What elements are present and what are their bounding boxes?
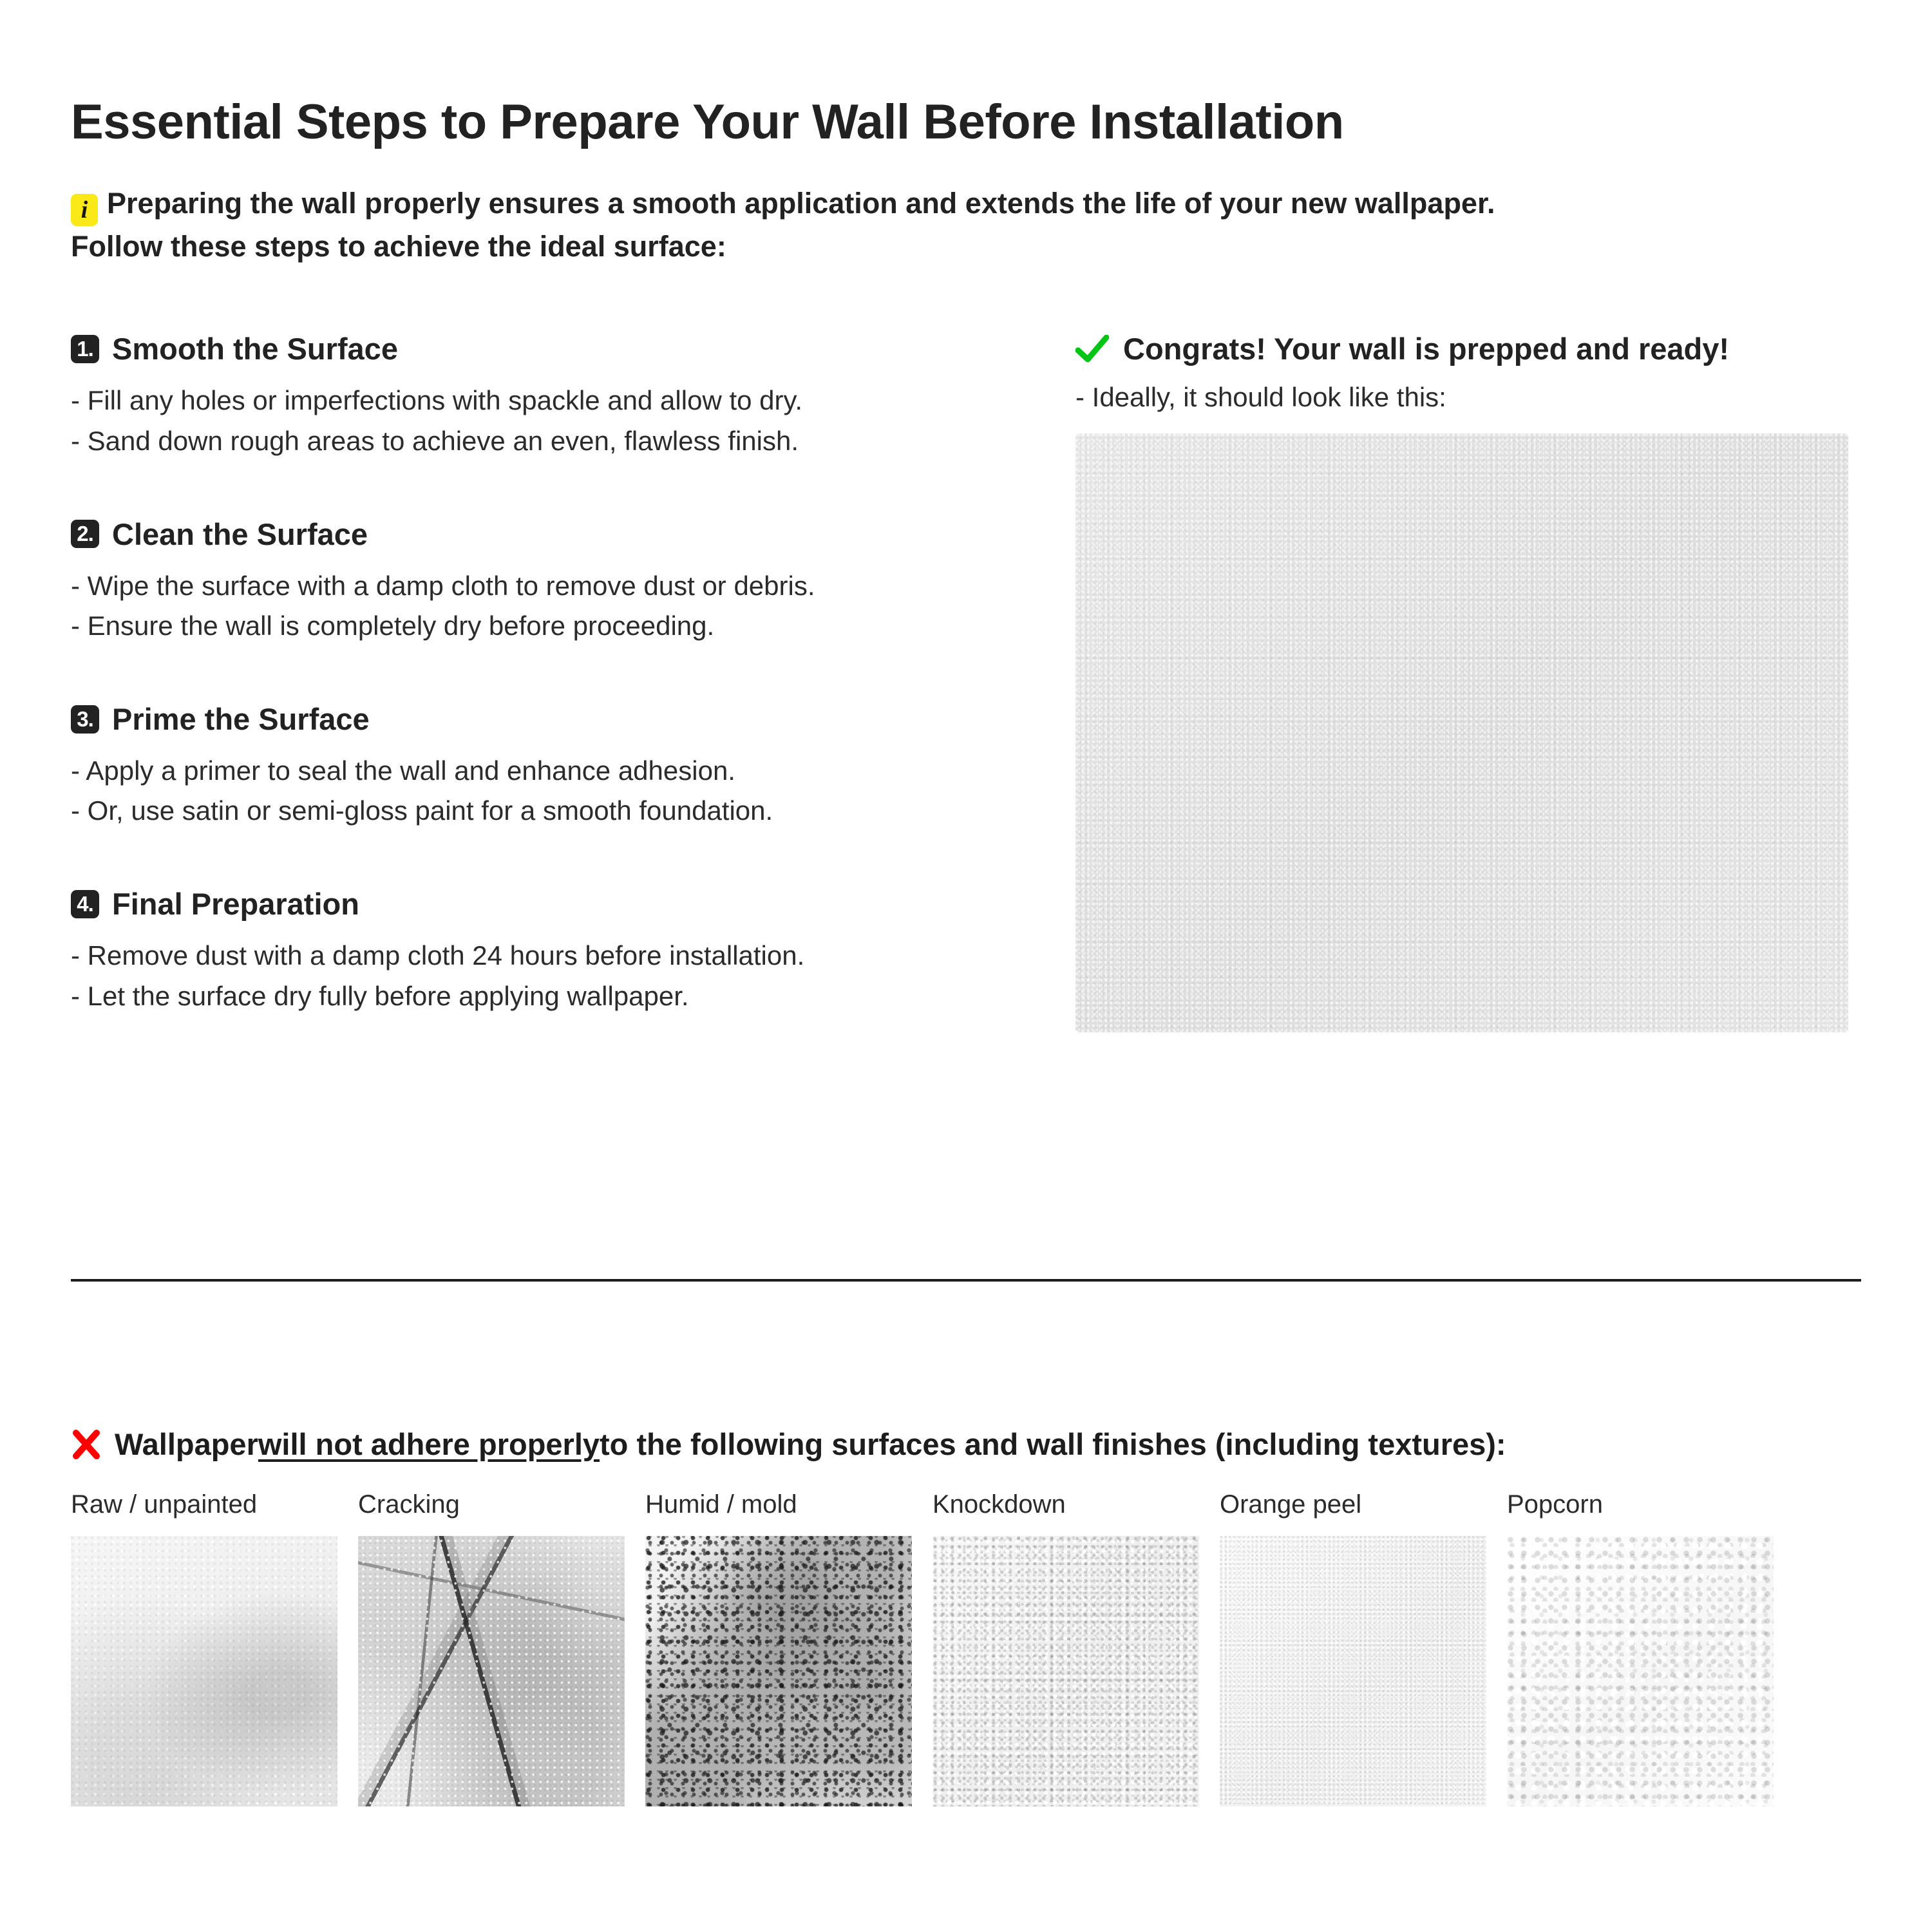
step-number-badge: 3. — [71, 705, 99, 734]
step-item-3: 3. Prime the Surface - Apply a primer to… — [71, 701, 1075, 831]
texture-label: Knockdown — [933, 1490, 1199, 1519]
texture-label: Popcorn — [1507, 1490, 1774, 1519]
page-title: Essential Steps to Prepare Your Wall Bef… — [71, 0, 1861, 149]
step-bullet: - Wipe the surface with a damp cloth to … — [71, 566, 1075, 606]
step-bullet: - Ensure the wall is completely dry befo… — [71, 606, 1075, 646]
texture-label: Humid / mold — [645, 1490, 912, 1519]
section-divider — [71, 1279, 1861, 1282]
wall-prep-guide-page: Essential Steps to Prepare Your Wall Bef… — [0, 0, 1932, 1932]
step-item-2: 2. Clean the Surface - Wipe the surface … — [71, 516, 1075, 646]
green-check-icon — [1075, 335, 1109, 363]
congrats-heading: Congrats! Your wall is prepped and ready… — [1075, 331, 1861, 366]
texture-sample-raw: Raw / unpainted — [71, 1490, 337, 1806]
texture-image-raw-unpainted — [71, 1536, 337, 1806]
step-bullets: - Fill any holes or imperfections with s… — [71, 381, 1075, 460]
steps-column: 1. Smooth the Surface - Fill any holes o… — [71, 331, 1075, 1032]
step-number-badge: 4. — [71, 890, 99, 918]
congrats-subtext: - Ideally, it should look like this: — [1075, 382, 1861, 413]
texture-image-knockdown — [933, 1536, 1199, 1806]
texture-label: Orange peel — [1220, 1490, 1486, 1519]
warning-text-before: Wallpaper — [115, 1426, 258, 1462]
red-x-icon — [71, 1429, 102, 1460]
step-title: Smooth the Surface — [112, 331, 398, 366]
step-heading: 1. Smooth the Surface — [71, 331, 1075, 366]
step-item-1: 1. Smooth the Surface - Fill any holes o… — [71, 331, 1075, 460]
texture-sample-humid-mold: Humid / mold — [645, 1490, 912, 1806]
step-heading: 3. Prime the Surface — [71, 701, 1075, 737]
step-bullet: - Sand down rough areas to achieve an ev… — [71, 421, 1075, 461]
texture-label: Cracking — [358, 1490, 625, 1519]
step-bullet: - Fill any holes or imperfections with s… — [71, 381, 1075, 421]
step-heading: 4. Final Preparation — [71, 886, 1075, 922]
warning-text-after: to the following surfaces and wall finis… — [600, 1426, 1506, 1462]
step-bullets: - Wipe the surface with a damp cloth to … — [71, 566, 1075, 646]
step-title: Prime the Surface — [112, 701, 370, 737]
info-badge-icon: i — [71, 194, 98, 226]
step-bullet: - Or, use satin or semi-gloss paint for … — [71, 791, 1075, 831]
content-columns: 1. Smooth the Surface - Fill any holes o… — [71, 331, 1861, 1032]
warning-heading: Wallpaper will not adhere properly to th… — [71, 1426, 1861, 1462]
texture-sample-orange-peel: Orange peel — [1220, 1490, 1486, 1806]
intro-line-2: Follow these steps to achieve the ideal … — [71, 230, 726, 263]
step-number-badge: 1. — [71, 335, 99, 363]
congrats-text: Congrats! Your wall is prepped and ready… — [1123, 331, 1729, 366]
prepped-wall-preview-image — [1075, 433, 1848, 1032]
texture-samples-grid: Raw / unpainted Cracking Humid / mold Kn… — [71, 1490, 1861, 1806]
texture-label: Raw / unpainted — [71, 1490, 337, 1519]
warning-text-underlined: will not adhere properly — [258, 1426, 600, 1462]
step-title: Clean the Surface — [112, 516, 368, 552]
step-bullet: - Remove dust with a damp cloth 24 hours… — [71, 936, 1075, 976]
texture-image-orange-peel — [1220, 1536, 1486, 1806]
texture-image-popcorn — [1507, 1536, 1774, 1806]
step-bullets: - Remove dust with a damp cloth 24 hours… — [71, 936, 1075, 1016]
step-bullet: - Apply a primer to seal the wall and en… — [71, 751, 1075, 791]
step-number-badge: 2. — [71, 520, 99, 548]
congrats-column: Congrats! Your wall is prepped and ready… — [1075, 331, 1861, 1032]
texture-sample-knockdown: Knockdown — [933, 1490, 1199, 1806]
texture-image-cracking — [358, 1536, 625, 1806]
step-bullets: - Apply a primer to seal the wall and en… — [71, 751, 1075, 831]
texture-sample-popcorn: Popcorn — [1507, 1490, 1774, 1806]
intro-line-1: Preparing the wall properly ensures a sm… — [107, 187, 1495, 220]
step-bullet: - Let the surface dry fully before apply… — [71, 976, 1075, 1016]
intro-paragraph: iPreparing the wall properly ensures a s… — [71, 183, 1848, 267]
unsuitable-surfaces-section: Wallpaper will not adhere properly to th… — [71, 1426, 1861, 1806]
step-title: Final Preparation — [112, 886, 359, 922]
texture-sample-cracking: Cracking — [358, 1490, 625, 1806]
step-item-4: 4. Final Preparation - Remove dust with … — [71, 886, 1075, 1016]
step-heading: 2. Clean the Surface — [71, 516, 1075, 552]
texture-image-humid-mold — [645, 1536, 912, 1806]
